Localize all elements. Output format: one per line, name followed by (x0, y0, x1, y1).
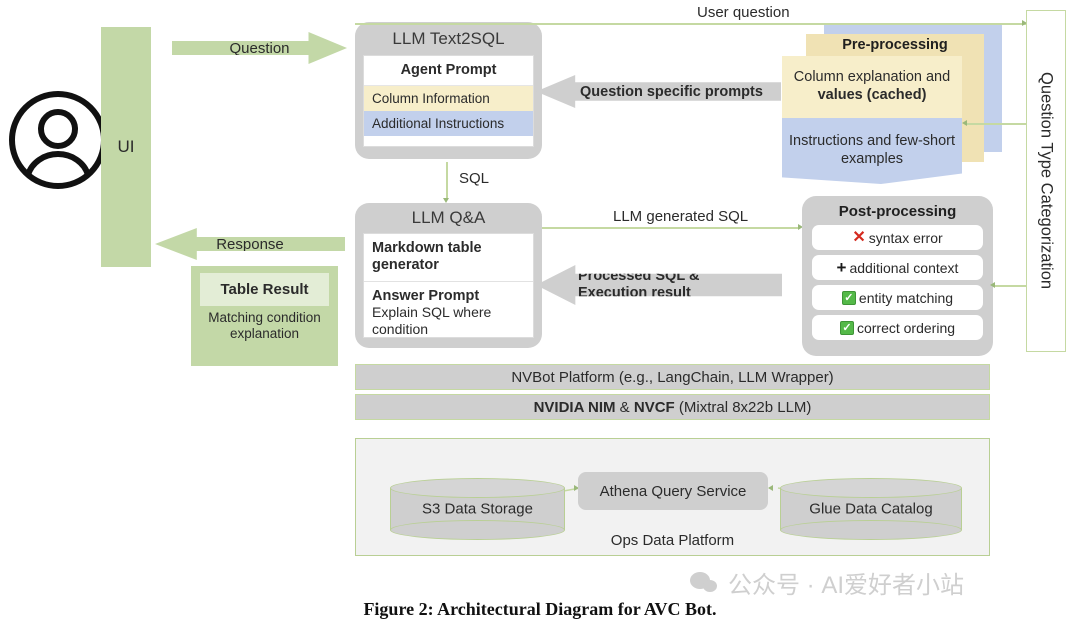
qtc-to-preprocessing-arrowhead (962, 120, 967, 126)
agent-prompt-row: Agent Prompt (364, 56, 533, 86)
glue-data-catalog-label: Glue Data Catalog (780, 501, 962, 518)
sql-down-arrow-icon (0, 0, 16, 45)
red-x-icon: ✕ (852, 230, 865, 246)
postprocessing-item-syntax-error: ✕ syntax error (812, 225, 983, 250)
table-result-title: Table Result (200, 273, 329, 306)
preprocessing-column-card: Column explanation and values (cached) (782, 56, 962, 118)
postprocessing-item-additional-context: + additional context (812, 255, 983, 280)
preprocessing-stack: Pre-processing Column explanation and va… (782, 24, 1002, 184)
nvbot-platform-bar: NVBot Platform (e.g., LangChain, LLM Wra… (355, 364, 990, 390)
nim-amp-text: & (616, 399, 634, 416)
athena-query-service-label: Athena Query Service (600, 483, 747, 500)
figure-caption: Figure 2: Architectural Diagram for AVC … (0, 599, 1080, 620)
glue-to-athena-arrowhead (768, 485, 773, 491)
processed-sql-arrow: Processed SQL & Execution result (536, 265, 782, 305)
question-type-categorization-bar[interactable]: Question Type Categorization (1026, 10, 1066, 352)
llm-generated-sql-line (542, 227, 800, 229)
prompt-stack-spacer (364, 136, 533, 146)
table-result-box: Table Result Matching condition explanat… (191, 266, 338, 366)
preprocessing-values-cached-text: values (cached) (818, 87, 927, 103)
athena-query-service-box: Athena Query Service (578, 472, 768, 510)
postprocessing-item-label: entity matching (859, 290, 953, 306)
s3-data-storage-label: S3 Data Storage (390, 501, 565, 518)
postprocessing-item-correct-ordering: ✓ correct ordering (812, 315, 983, 340)
preprocessing-title: Pre-processing (806, 34, 984, 56)
llm-qa-panel: Markdown table generator Answer Prompt E… (363, 233, 534, 338)
glue-data-catalog-cylinder: Glue Data Catalog (780, 478, 962, 540)
s3-data-storage-cylinder: S3 Data Storage (390, 478, 565, 540)
postprocessing-item-entity-matching: ✓ entity matching (812, 285, 983, 310)
answer-prompt-body: Explain SQL where condition (372, 304, 525, 338)
markdown-generator-row: Markdown table generator (364, 234, 533, 282)
watermark-text: 公众号 · AI爱好者小站 (728, 565, 964, 600)
qtc-to-preprocessing-line (966, 123, 1027, 125)
question-arrow-label: Question (229, 40, 289, 57)
postprocessing-item-label: syntax error (869, 230, 943, 246)
ui-bar-label: UI (118, 137, 135, 157)
ui-bar[interactable]: UI (101, 27, 151, 267)
cylinder-bottom (390, 520, 565, 540)
answer-prompt-row: Answer Prompt Explain SQL where conditio… (364, 282, 533, 344)
llm-text2sql-title: LLM Text2SQL (355, 22, 542, 49)
preprocessing-instructions-card: Instructions and few-short examples (782, 118, 962, 184)
nvidia-nim-nvcf-label: NVIDIA NIM & NVCF (Mixtral 8x22b LLM) (534, 399, 812, 416)
postprocessing-item-label: correct ordering (857, 320, 955, 336)
preprocessing-column-text: Column explanation and (794, 69, 950, 85)
processed-sql-line2: Execution result (578, 285, 699, 302)
user-question-label: User question (697, 4, 790, 21)
execution-result-up-arrow-icon (0, 45, 16, 90)
question-specific-prompts-label: Question specific prompts (580, 84, 763, 100)
cylinder-bottom (780, 520, 962, 540)
wechat-logo-icon (690, 572, 720, 594)
green-check-icon: ✓ (840, 321, 854, 335)
question-arrow: Question (172, 32, 347, 64)
answer-prompt-title: Answer Prompt (372, 288, 525, 304)
nvbot-platform-label: NVBot Platform (e.g., LangChain, LLM Wra… (511, 369, 833, 386)
sql-flow-label: SQL (459, 170, 489, 187)
llm-qa-title: LLM Q&A (355, 203, 542, 228)
postprocessing-item-label: additional context (849, 260, 958, 276)
question-specific-prompts-arrow: Question specific prompts (536, 75, 781, 108)
plus-icon: + (837, 259, 847, 276)
qtc-to-postprocessing-line (994, 285, 1027, 287)
additional-instructions-row: Additional Instructions (364, 111, 533, 136)
green-check-icon: ✓ (842, 291, 856, 305)
architecture-diagram: UI Question Response Table Result Matchi… (0, 0, 1080, 628)
mixtral-model-text: (Mixtral 8x22b LLM) (675, 399, 812, 416)
llm-generated-sql-label: LLM generated SQL (613, 208, 748, 225)
question-type-categorization-label: Question Type Categorization (1037, 72, 1056, 289)
cylinder-top (390, 478, 565, 498)
llm-text2sql-box: LLM Text2SQL Agent Prompt Column Informa… (355, 22, 542, 159)
table-result-subtitle: Matching condition explanation (191, 306, 338, 342)
nvidia-nim-text: NVIDIA NIM (534, 399, 616, 416)
qtc-to-postprocessing-arrowhead (990, 282, 995, 288)
response-arrow: Response (155, 228, 345, 260)
watermark: 公众号 · AI爱好者小站 (690, 565, 964, 600)
processed-sql-line1: Processed SQL & (578, 268, 699, 285)
nvcf-text: NVCF (634, 399, 675, 416)
nvidia-nim-nvcf-bar: NVIDIA NIM & NVCF (Mixtral 8x22b LLM) (355, 394, 990, 420)
llm-text2sql-prompt-stack: Agent Prompt Column Information Addition… (363, 55, 534, 147)
response-arrow-label: Response (216, 236, 284, 253)
preprocessing-instructions-text: Instructions and few-short examples (788, 133, 956, 168)
user-avatar-icon (6, 88, 110, 192)
llm-qa-box: LLM Q&A Markdown table generator Answer … (355, 203, 542, 348)
postprocessing-box: Post-processing ✕ syntax error + additio… (802, 196, 993, 356)
sql-connector-line (446, 162, 448, 200)
processed-sql-label-group: Processed SQL & Execution result (578, 268, 699, 302)
postprocessing-title: Post-processing (802, 196, 993, 220)
user-question-line (355, 23, 1027, 25)
column-information-row: Column Information (364, 86, 533, 111)
cylinder-top (780, 478, 962, 498)
